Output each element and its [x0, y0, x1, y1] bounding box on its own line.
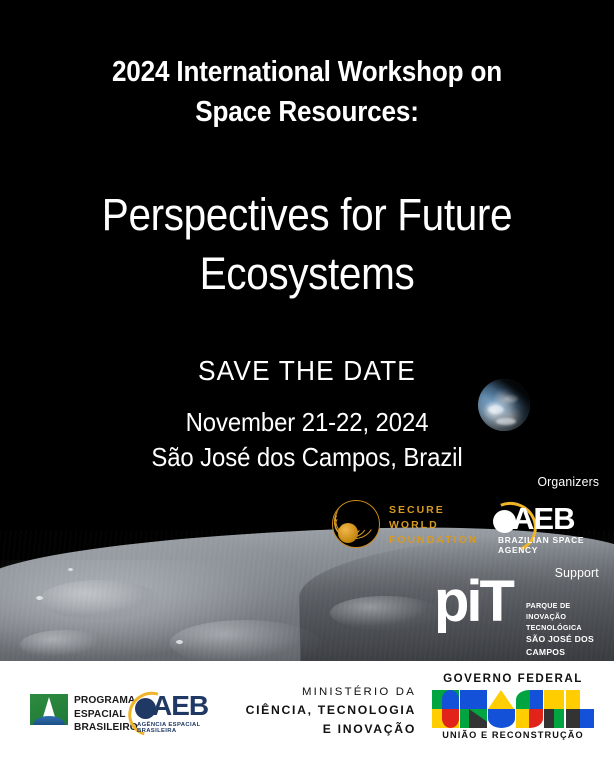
brasil-letter-r [460, 690, 487, 728]
event-headline-line1: Perspectives for Future [31, 186, 584, 245]
pit-tagline-line2: INOVAÇÃO TECNOLÓGICA [526, 612, 610, 634]
pit-tagline-line3: SÃO JOSÉ DOS CAMPOS [526, 633, 610, 659]
event-date: November 21-22, 2024 [25, 405, 590, 440]
secure-world-foundation-dot-icon [338, 523, 358, 543]
event-kicker-line2: Space Resources: [31, 92, 584, 132]
brasil-letter-l [566, 690, 594, 728]
pit-tagline: PARQUE DE INOVAÇÃO TECNOLÓGICA SÃO JOSÉ … [526, 601, 610, 659]
secure-world-foundation-mark-icon [332, 500, 380, 548]
brasil-wordmark-icon [432, 690, 594, 728]
event-headline-line2: Ecosystems [31, 245, 584, 304]
brasil-letter-i [544, 690, 564, 728]
aeb-wordmark: AEB [512, 503, 574, 534]
aeb-tagline: BRAZILIAN SPACE AGENCY [498, 535, 610, 555]
brasil-letter-a [488, 690, 515, 728]
programa-espacial-mark-icon [30, 694, 68, 725]
event-kicker: 2024 International Workshop on Space Res… [31, 52, 584, 132]
organizers-label: Organizers [509, 474, 599, 489]
pit-wordmark: piT [434, 573, 512, 631]
swf-line2: WORLD [389, 518, 478, 533]
poster-canvas: 2024 International Workshop on Space Res… [0, 0, 614, 768]
brasil-letter-s [516, 690, 543, 728]
event-kicker-line1: 2024 International Workshop on [31, 52, 584, 92]
swf-line3: FOUNDATION [389, 533, 478, 548]
event-location: São José dos Campos, Brazil [25, 440, 590, 475]
logo-secure-world-foundation[interactable]: SECURE WORLD FOUNDATION [332, 498, 478, 548]
cathedral-spire-icon [43, 697, 55, 717]
save-the-date-label: SAVE THE DATE [18, 355, 595, 387]
event-headline: Perspectives for Future Ecosystems [31, 186, 584, 303]
ministry-line2: CIÊNCIA, TECNOLOGIA [232, 701, 416, 720]
aeb-footer-tagline: AGÊNCIA ESPACIAL BRASILEIRA [137, 722, 236, 734]
logo-ministerio-ciencia-tecnologia-inovacao[interactable]: MINISTÉRIO DA CIÊNCIA, TECNOLOGIA E INOV… [232, 684, 416, 738]
logo-aeb-agencia-espacial-brasileira[interactable]: AEB AGÊNCIA ESPACIAL BRASILEIRA [128, 694, 236, 734]
governo-federal-label: GOVERNO FEDERAL [428, 672, 598, 685]
brasil-letter-b [432, 690, 459, 728]
cathedral-base-icon [33, 716, 65, 725]
aeb-footer-wordmark: AEB [152, 692, 208, 720]
logo-aeb-brazilian-space-agency[interactable]: AEB BRAZILIAN SPACE AGENCY [484, 503, 610, 549]
uniao-reconstrucao-label: UNIÃO E RECONSTRUÇÃO [428, 730, 598, 740]
secure-world-foundation-wordmark: SECURE WORLD FOUNDATION [389, 503, 478, 548]
swf-line1: SECURE [389, 503, 478, 518]
logo-pit[interactable]: piT PARQUE DE INOVAÇÃO TECNOLÓGICA SÃO J… [434, 583, 610, 639]
support-label: Support [501, 565, 599, 580]
ministry-line3: E INOVAÇÃO [232, 720, 416, 739]
event-when-where: November 21-22, 2024 São José dos Campos… [25, 405, 590, 475]
ministry-line1: MINISTÉRIO DA [232, 684, 416, 701]
pit-tagline-line1: PARQUE DE [526, 601, 610, 612]
